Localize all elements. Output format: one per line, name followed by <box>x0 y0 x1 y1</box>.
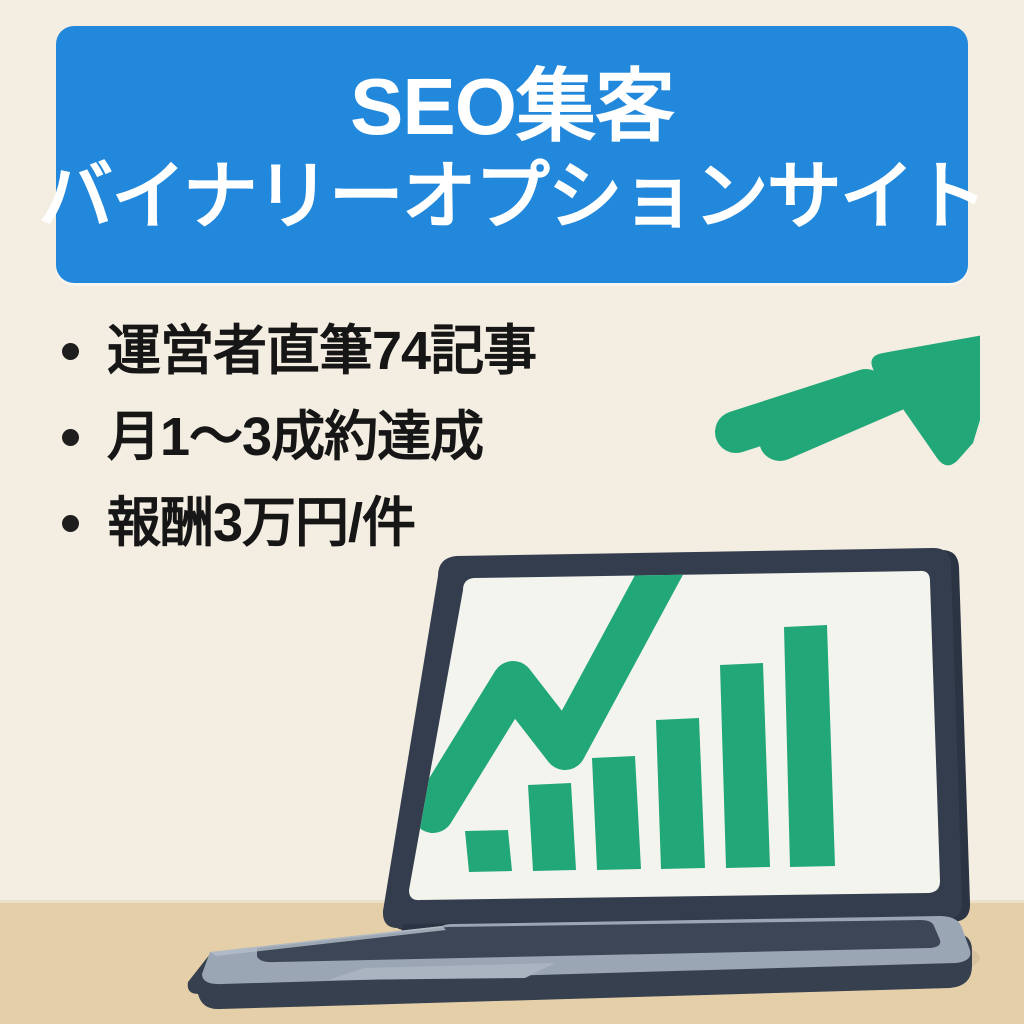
chart-bar <box>528 783 576 871</box>
bullet-dot-icon <box>62 343 79 360</box>
banner-title-line1: SEO集客 <box>350 65 674 148</box>
growth-arrow <box>736 332 980 465</box>
chart-bar <box>656 718 705 869</box>
chart-bar <box>592 756 641 870</box>
chart-bar <box>784 625 835 867</box>
laptop-illustration <box>180 330 980 1024</box>
bullet-dot-icon <box>62 429 79 446</box>
arrow-shaft-upper <box>780 375 930 440</box>
header-banner: SEO集客 バイナリーオプションサイト <box>56 26 968 283</box>
banner-title-line2: バイナリーオプションサイト <box>38 154 986 238</box>
chart-bar <box>720 663 770 868</box>
bullet-dot-icon <box>62 515 79 532</box>
laptop-svg <box>180 330 980 1024</box>
poster-canvas: SEO集客 バイナリーオプションサイト 運営者直筆74記事 月1〜3成約達成 報… <box>0 0 1024 1024</box>
chart-bar <box>465 830 512 872</box>
